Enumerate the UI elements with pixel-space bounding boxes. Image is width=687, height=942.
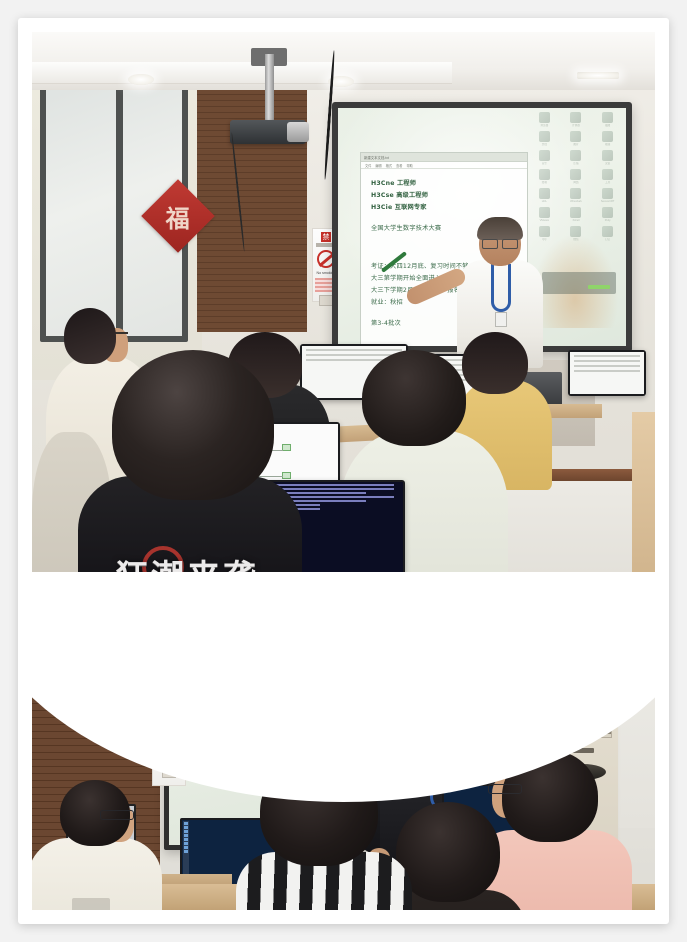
- desktop-icon[interactable]: Putty: [593, 207, 622, 222]
- desktop-icon[interactable]: Wireshark: [562, 188, 591, 203]
- desktop-icon[interactable]: 音乐: [530, 150, 559, 165]
- ceiling-light-bar: [577, 72, 619, 79]
- window-mullion: [116, 88, 123, 336]
- desktop-icon[interactable]: 微信: [562, 226, 591, 241]
- photo-stack: 福 禁 No smoking: [32, 32, 655, 910]
- student-head: [462, 332, 528, 394]
- ceiling-drop-soffit: [32, 62, 452, 84]
- desktop-icon[interactable]: 截图: [593, 112, 622, 127]
- glasses-icon: [488, 784, 522, 794]
- desktop-icon[interactable]: 终端: [530, 169, 559, 184]
- window-titlebar[interactable]: 新建文本文档.txt: [361, 153, 527, 162]
- desktop-icon[interactable]: 工具: [593, 169, 622, 184]
- menu-item[interactable]: 文件: [365, 163, 371, 168]
- menu-item[interactable]: 格式: [386, 163, 392, 168]
- student-head: [112, 350, 274, 500]
- window-menubar[interactable]: 文件 编辑 格式 查看 帮助: [361, 162, 527, 169]
- projector-mount-pole: [265, 54, 274, 126]
- desktop-icon[interactable]: HCL: [530, 188, 559, 203]
- laptop-browser[interactable]: [568, 350, 646, 396]
- glasses-icon: [482, 239, 518, 247]
- wood-wall-panel: [197, 77, 307, 332]
- id-badge: [495, 312, 507, 327]
- desktop-icon[interactable]: 浏览器: [530, 112, 559, 127]
- desktop-icon-grid[interactable]: 浏览器 计算器 截图 文档 图片 视频 音乐 压缩 安装 终端 网络 工具 HC…: [530, 112, 622, 241]
- top-photo: 福 禁 No smoking: [32, 32, 655, 632]
- desktop-icon[interactable]: 网络: [562, 169, 591, 184]
- desktop-icon[interactable]: 图片: [562, 131, 591, 146]
- slide-line: H3Cne 工程师: [371, 178, 519, 190]
- slide-line: H3Cie 互联网专家: [371, 202, 519, 214]
- desktop-icon[interactable]: 钉钉: [593, 226, 622, 241]
- desktop-icon[interactable]: 安装: [593, 150, 622, 165]
- taskbar-popup[interactable]: [542, 272, 616, 294]
- desktop-icon[interactable]: 压缩: [562, 150, 591, 165]
- no-smoking-title: 禁: [321, 232, 331, 242]
- menu-item[interactable]: 查看: [396, 163, 402, 168]
- desktop-icon[interactable]: 视频: [593, 131, 622, 146]
- shirt-logo: [72, 898, 110, 910]
- ceiling-downlight: [128, 74, 154, 85]
- photo-collage: 福 禁 No smoking: [0, 0, 687, 942]
- glasses-icon: [100, 810, 134, 820]
- presenter-hair: [477, 217, 523, 240]
- desktop-icon[interactable]: 文档: [530, 131, 559, 146]
- menu-item[interactable]: 帮助: [407, 163, 413, 168]
- desktop-icon[interactable]: 计算器: [562, 112, 591, 127]
- menu-item[interactable]: 编辑: [375, 163, 381, 168]
- wall-switch-box: [319, 295, 333, 306]
- window-title: 新建文本文档.txt: [364, 155, 389, 160]
- desktop-icon[interactable]: Xshell: [562, 207, 591, 222]
- desktop-icon[interactable]: SecureCRT: [593, 188, 622, 203]
- slide-line: H3Cse 高级工程师: [371, 190, 519, 202]
- fu-character: 福: [166, 199, 190, 234]
- lanyard: [491, 264, 511, 312]
- student-head: [362, 350, 466, 446]
- projector-lens: [287, 122, 309, 142]
